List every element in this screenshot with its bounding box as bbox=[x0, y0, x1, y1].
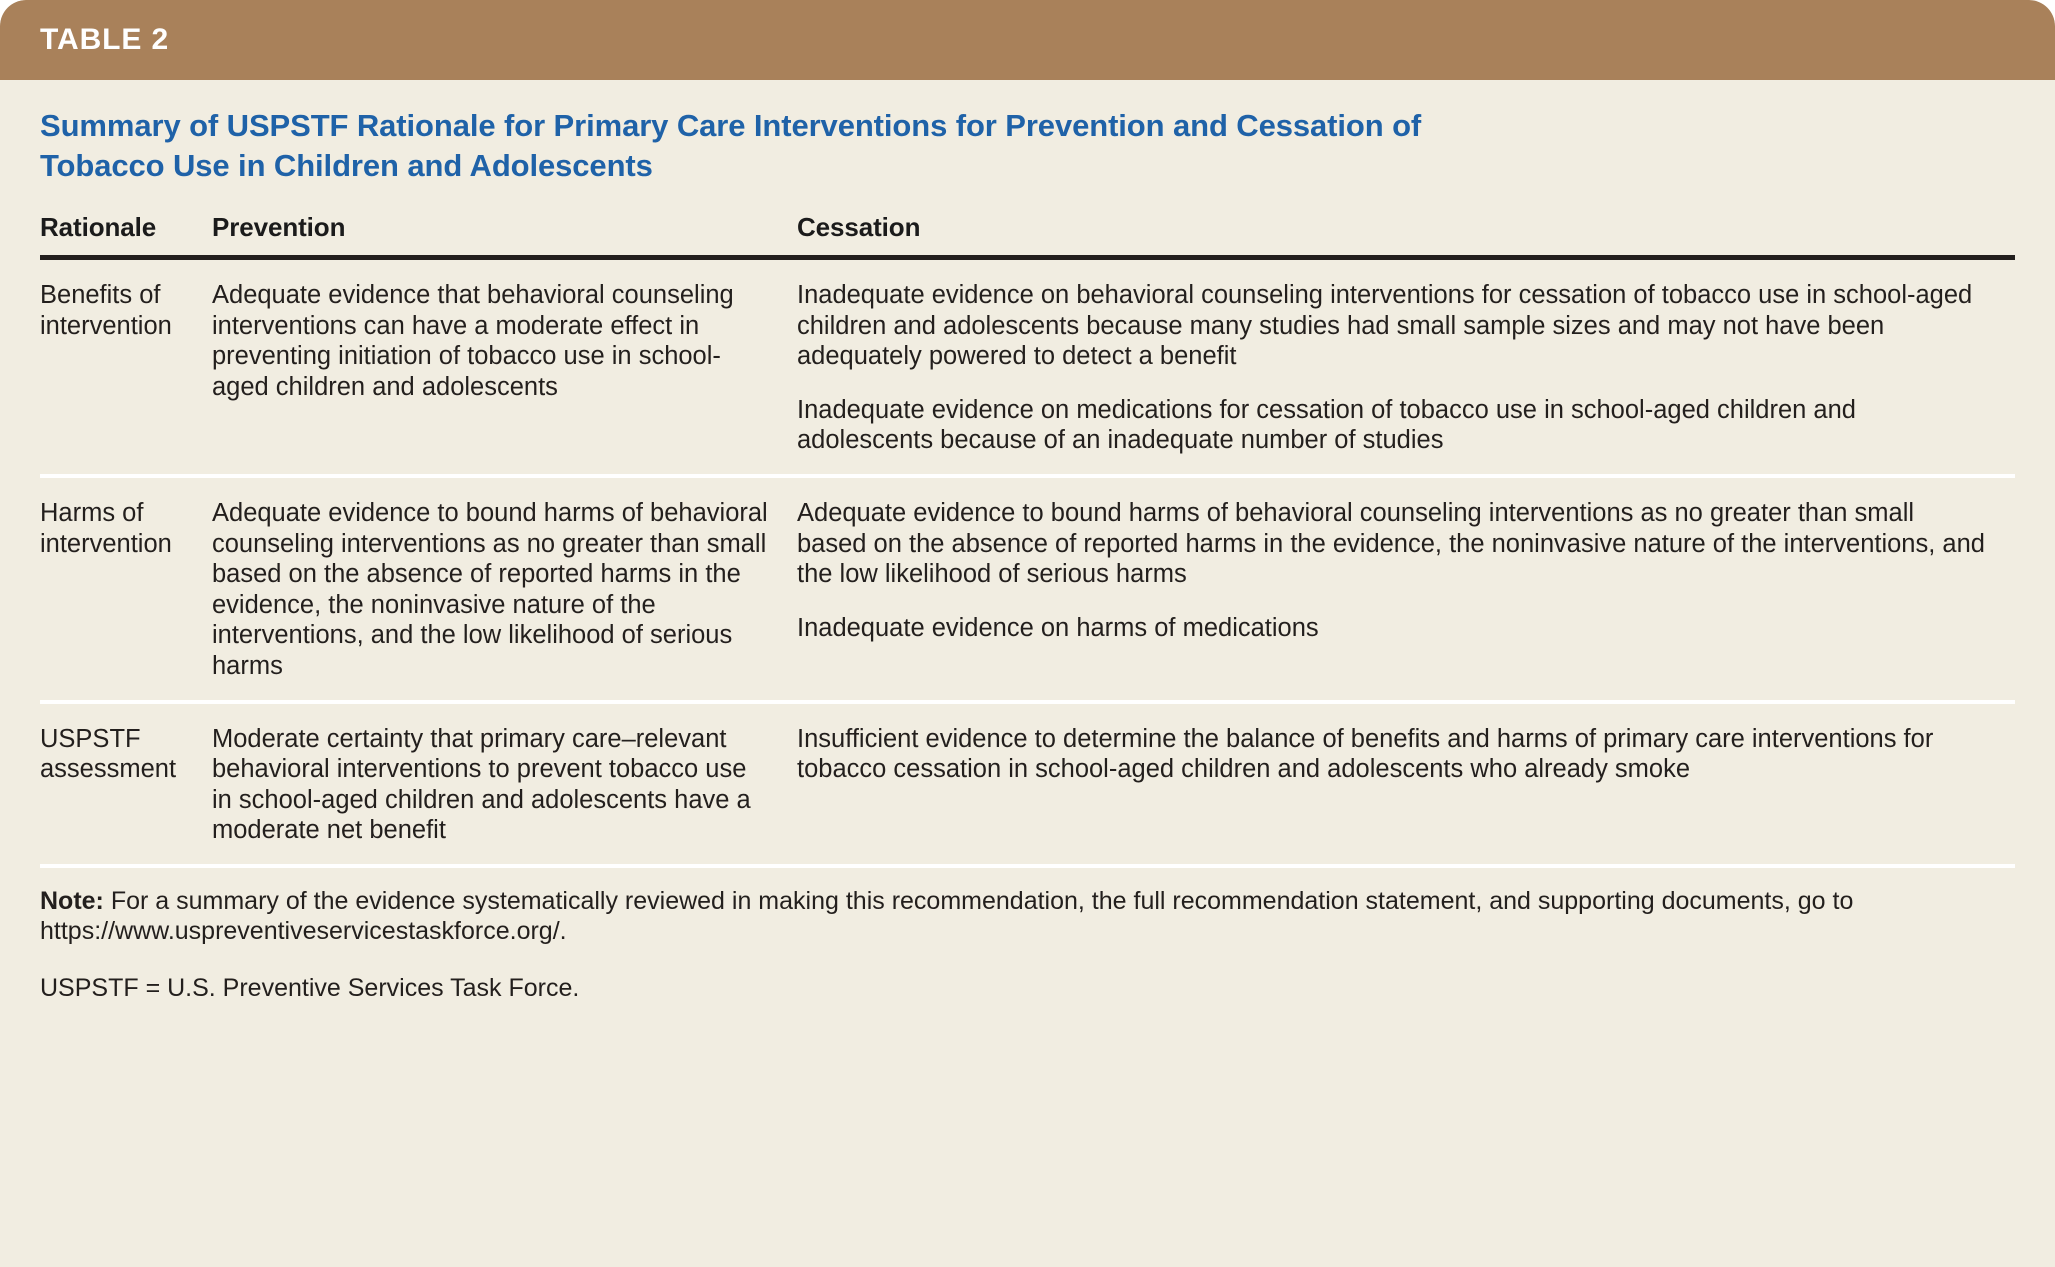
table-row: Benefits of intervention Adequate eviden… bbox=[40, 260, 2015, 474]
row-prevention-harms: Adequate evidence to bound harms of beha… bbox=[212, 498, 797, 682]
table-card: TABLE 2 Summary of USPSTF Rationale for … bbox=[0, 0, 2055, 1267]
row-cessation-harms: Adequate evidence to bound harms of beha… bbox=[797, 498, 2015, 682]
table-row: Harms of intervention Adequate evidence … bbox=[40, 478, 2015, 700]
paragraph: Inadequate evidence on harms of medicati… bbox=[797, 613, 1987, 644]
row-label-harms: Harms of intervention bbox=[40, 498, 212, 682]
row-prevention-benefits: Adequate evidence that behavioral counse… bbox=[212, 280, 797, 456]
row-prevention-assessment: Moderate certainty that primary care–rel… bbox=[212, 724, 797, 846]
table-title: Summary of USPSTF Rationale for Primary … bbox=[40, 80, 1510, 186]
column-header-cessation: Cessation bbox=[797, 212, 2015, 243]
row-label-benefits: Benefits of intervention bbox=[40, 280, 212, 456]
note-label: Note: bbox=[40, 887, 104, 915]
row-label-assessment: USPSTF assessment bbox=[40, 724, 212, 846]
paragraph: Insufficient evidence to determine the b… bbox=[797, 724, 1987, 785]
table-footnotes: Note: For a summary of the evidence syst… bbox=[40, 868, 2015, 1014]
paragraph: Inadequate evidence on medications for c… bbox=[797, 395, 1987, 456]
note-body: For a summary of the evidence systematic… bbox=[40, 887, 1853, 946]
paragraph: Adequate evidence that behavioral counse… bbox=[212, 280, 769, 402]
paragraph: Adequate evidence to bound harms of beha… bbox=[797, 498, 1987, 590]
table-row: USPSTF assessment Moderate certainty tha… bbox=[40, 704, 2015, 864]
table-body: Summary of USPSTF Rationale for Primary … bbox=[0, 80, 2055, 1013]
column-header-prevention: Prevention bbox=[212, 212, 797, 243]
column-header-row: Rationale Prevention Cessation bbox=[40, 212, 2015, 243]
note-line: Note: For a summary of the evidence syst… bbox=[40, 886, 2015, 947]
paragraph: Inadequate evidence on behavioral counse… bbox=[797, 280, 1987, 372]
paragraph: Adequate evidence to bound harms of beha… bbox=[212, 498, 769, 682]
table-number-label: TABLE 2 bbox=[40, 23, 169, 57]
row-cessation-assessment: Insufficient evidence to determine the b… bbox=[797, 724, 2015, 846]
row-cessation-benefits: Inadequate evidence on behavioral counse… bbox=[797, 280, 2015, 456]
paragraph: Moderate certainty that primary care–rel… bbox=[212, 724, 769, 846]
column-header-rationale: Rationale bbox=[40, 212, 212, 243]
abbreviation-line: USPSTF = U.S. Preventive Services Task F… bbox=[40, 973, 2015, 1004]
table-banner: TABLE 2 bbox=[0, 0, 2055, 80]
